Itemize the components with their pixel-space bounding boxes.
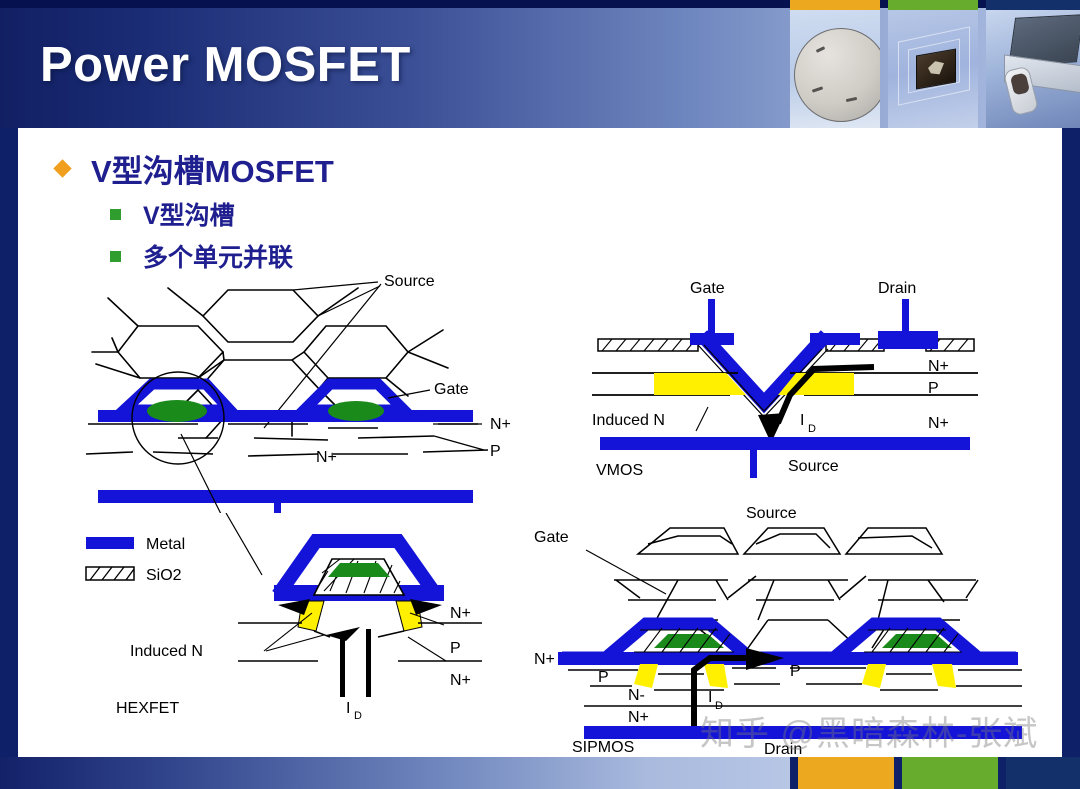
- sipmos-drain-metal: [584, 726, 1022, 739]
- photo-bar-orange: [790, 0, 880, 10]
- sipmos-metal-layer: [558, 624, 1018, 665]
- label-current-id-sub: D: [808, 423, 816, 435]
- label-source: Source: [788, 458, 839, 475]
- photo-bar-blue: [986, 0, 1080, 10]
- page-title: Power MOSFET: [40, 37, 411, 93]
- diagram-hexfet-overview: Source: [78, 268, 548, 513]
- diagram-sipmos: Source Gate: [528, 498, 1048, 758]
- photo-bar-green: [888, 0, 978, 10]
- footer-blue-segment: [1006, 757, 1080, 789]
- label-drain: Drain: [764, 741, 802, 758]
- diagram-hexfet-detail: Metal SiO2: [78, 513, 538, 728]
- diagram-area: Source: [18, 128, 1062, 757]
- label-p: P: [490, 443, 501, 460]
- footer-gradient-segment: [0, 757, 790, 789]
- slide-footer-bar: [0, 757, 1080, 789]
- legend-label-metal: Metal: [146, 536, 185, 553]
- wafer-disc-icon: [794, 28, 880, 122]
- label-gate: Gate: [534, 529, 569, 546]
- diagram-vmos: Gate Drain: [578, 273, 1038, 488]
- sipmos-current-path: [694, 648, 784, 726]
- legend-label-sio2: SiO2: [146, 567, 182, 584]
- hexfet-detail-cell: [238, 541, 482, 697]
- header-photo-strip: [790, 0, 1080, 128]
- label-current-id: I: [708, 689, 712, 706]
- label-current-id: I: [346, 700, 350, 717]
- vmos-induced-n-leader: [696, 407, 708, 431]
- vmos-source-terminal: [750, 450, 757, 478]
- label-n-plus-bottom: N+: [450, 672, 471, 689]
- slide-content-panel: V型沟槽MOSFET V型沟槽 多个单元并联: [18, 128, 1062, 757]
- label-induced-n: Induced N: [130, 643, 203, 660]
- label-n-plus-top: N+: [450, 605, 471, 622]
- label-drain: Drain: [878, 280, 916, 297]
- label-n-minus: N-: [628, 687, 645, 704]
- slide-header: Power MOSFET: [0, 0, 1080, 128]
- label-induced-n: Induced N: [592, 412, 665, 429]
- hexfet-metal-layer: [98, 384, 473, 513]
- sipmos-gate-poly-right: [882, 634, 952, 648]
- label-p: P: [450, 640, 461, 657]
- label-gate: Gate: [690, 280, 725, 297]
- label-n-plus: N+: [490, 416, 511, 433]
- slide-root: Power MOSFET: [0, 0, 1080, 789]
- footer-orange-segment: [798, 757, 894, 789]
- label-source: Source: [746, 505, 797, 522]
- vmos-source-metal: [600, 437, 970, 450]
- wafer-image: [790, 10, 880, 128]
- devices-image: [986, 10, 1080, 128]
- legend-metal: Metal: [86, 536, 185, 553]
- label-source: Source: [384, 273, 435, 290]
- footer-green-segment: [902, 757, 998, 789]
- legend-sio2: SiO2: [86, 567, 182, 584]
- header-photo-wafer: [790, 0, 880, 128]
- label-current-id-sub: D: [715, 700, 723, 712]
- label-hexfet-title: HEXFET: [116, 700, 179, 717]
- label-n-plus-top: N+: [928, 358, 949, 375]
- detail-leader-line: [226, 513, 262, 575]
- label-gate: Gate: [434, 381, 469, 398]
- label-n-plus-bottom: N+: [928, 415, 949, 432]
- label-p-mid: P: [790, 663, 801, 680]
- label-vmos-title: VMOS: [596, 462, 643, 479]
- sipmos-gate-poly-left: [654, 634, 724, 648]
- label-p: P: [928, 380, 939, 397]
- vmos-gate-terminal: [708, 299, 715, 337]
- label-current-id-sub: D: [354, 710, 362, 722]
- label-n-plus-body: N+: [316, 449, 337, 466]
- label-n-plus-bottom: N+: [628, 709, 649, 726]
- header-photo-devices: [986, 0, 1080, 128]
- label-p-left: P: [598, 669, 609, 686]
- label-n-plus-left: N+: [534, 651, 555, 668]
- header-photo-chip: [888, 0, 978, 128]
- label-current-id: I: [800, 412, 804, 429]
- label-sipmos-title: SIPMOS: [572, 739, 634, 756]
- chip-image: [888, 10, 978, 128]
- chip-icon: [916, 48, 956, 89]
- chip-logo-icon: [928, 60, 944, 77]
